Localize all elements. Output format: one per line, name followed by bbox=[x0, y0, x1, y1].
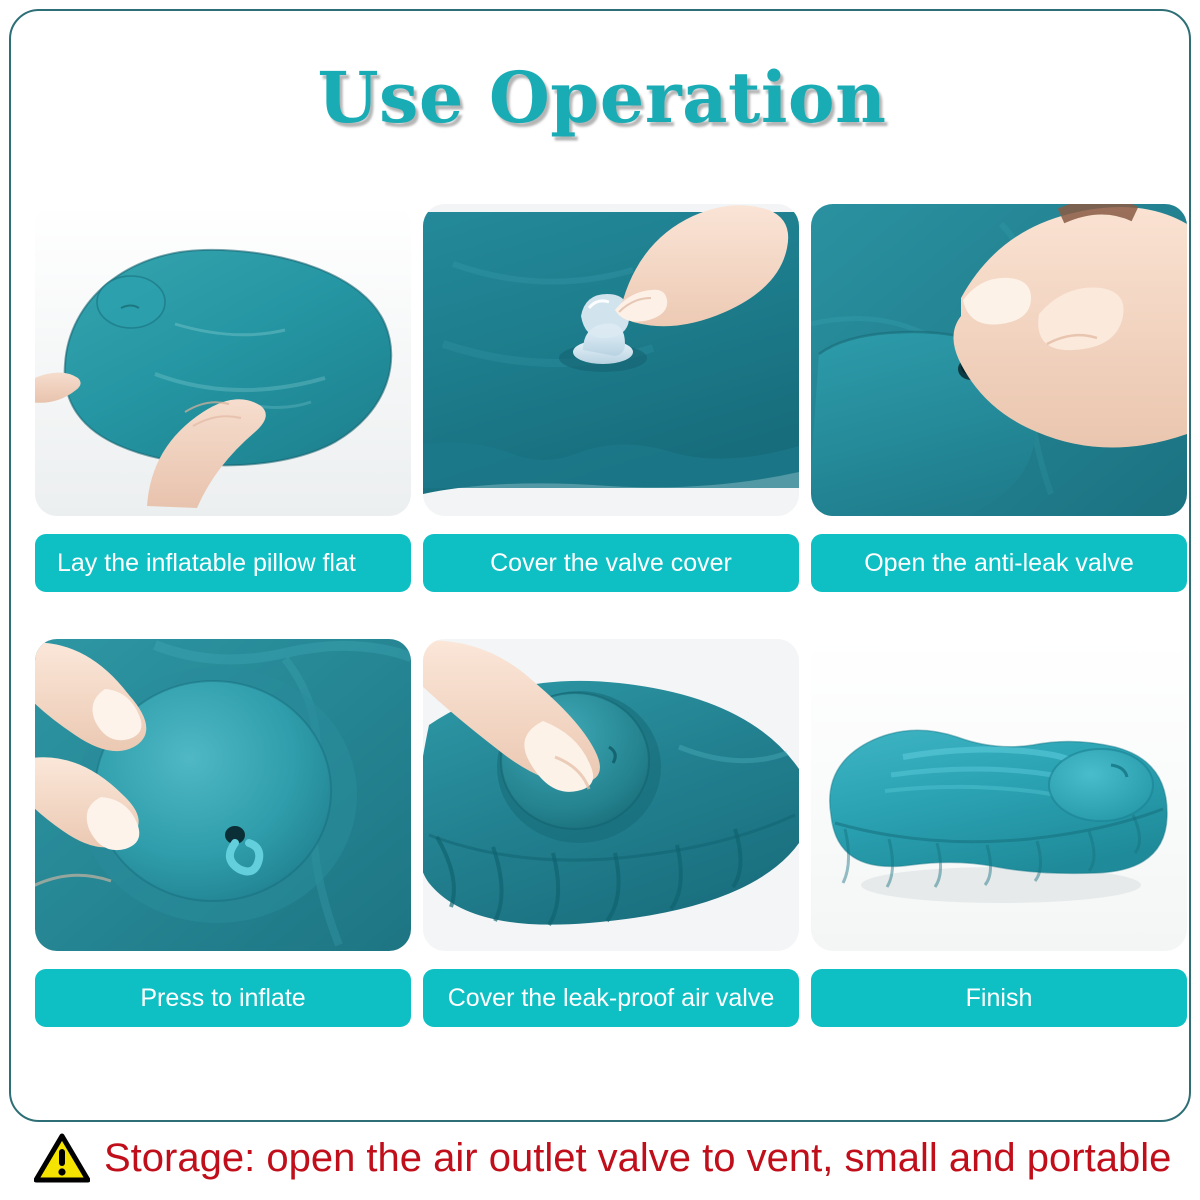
open-valve-illustration bbox=[811, 204, 1187, 516]
step-3-caption: Open the anti-leak valve bbox=[811, 534, 1187, 592]
valve-cover-illustration bbox=[423, 204, 799, 516]
step-1: Lay the inflatable pillow flat bbox=[35, 204, 411, 592]
page-title: Use Operation bbox=[317, 63, 886, 133]
step-2-caption: Cover the valve cover bbox=[423, 534, 799, 592]
step-5: Cover the leak-proof air valve bbox=[423, 639, 799, 1027]
cover-air-valve-illustration bbox=[423, 639, 799, 951]
storage-warning: Storage: open the air outlet valve to ve… bbox=[34, 1133, 1194, 1183]
infographic-frame: Use Operation bbox=[9, 9, 1191, 1122]
photo-finished-pillow bbox=[811, 639, 1187, 951]
step-4: Press to inflate bbox=[35, 639, 411, 1027]
photo-valve-cover bbox=[423, 204, 799, 516]
warning-triangle-icon bbox=[34, 1133, 90, 1183]
step-6-caption: Finish bbox=[811, 969, 1187, 1027]
pillow-flat-illustration bbox=[35, 204, 411, 516]
photo-press-inflate bbox=[35, 639, 411, 951]
step-6: Finish bbox=[811, 639, 1187, 1027]
press-inflate-illustration bbox=[35, 639, 411, 951]
step-1-caption: Lay the inflatable pillow flat bbox=[35, 534, 411, 592]
step-2: Cover the valve cover bbox=[423, 204, 799, 592]
step-3: Open the anti-leak valve bbox=[811, 204, 1187, 592]
photo-open-valve bbox=[811, 204, 1187, 516]
photo-pillow-flat bbox=[35, 204, 411, 516]
page-title-container: Use Operation bbox=[11, 63, 1193, 133]
steps-grid: Lay the inflatable pillow flat bbox=[35, 204, 1171, 1027]
finished-pillow-illustration bbox=[811, 639, 1187, 951]
step-4-caption: Press to inflate bbox=[35, 969, 411, 1027]
storage-warning-text: Storage: open the air outlet valve to ve… bbox=[104, 1135, 1171, 1181]
photo-cover-air-valve bbox=[423, 639, 799, 951]
step-5-caption: Cover the leak-proof air valve bbox=[423, 969, 799, 1027]
